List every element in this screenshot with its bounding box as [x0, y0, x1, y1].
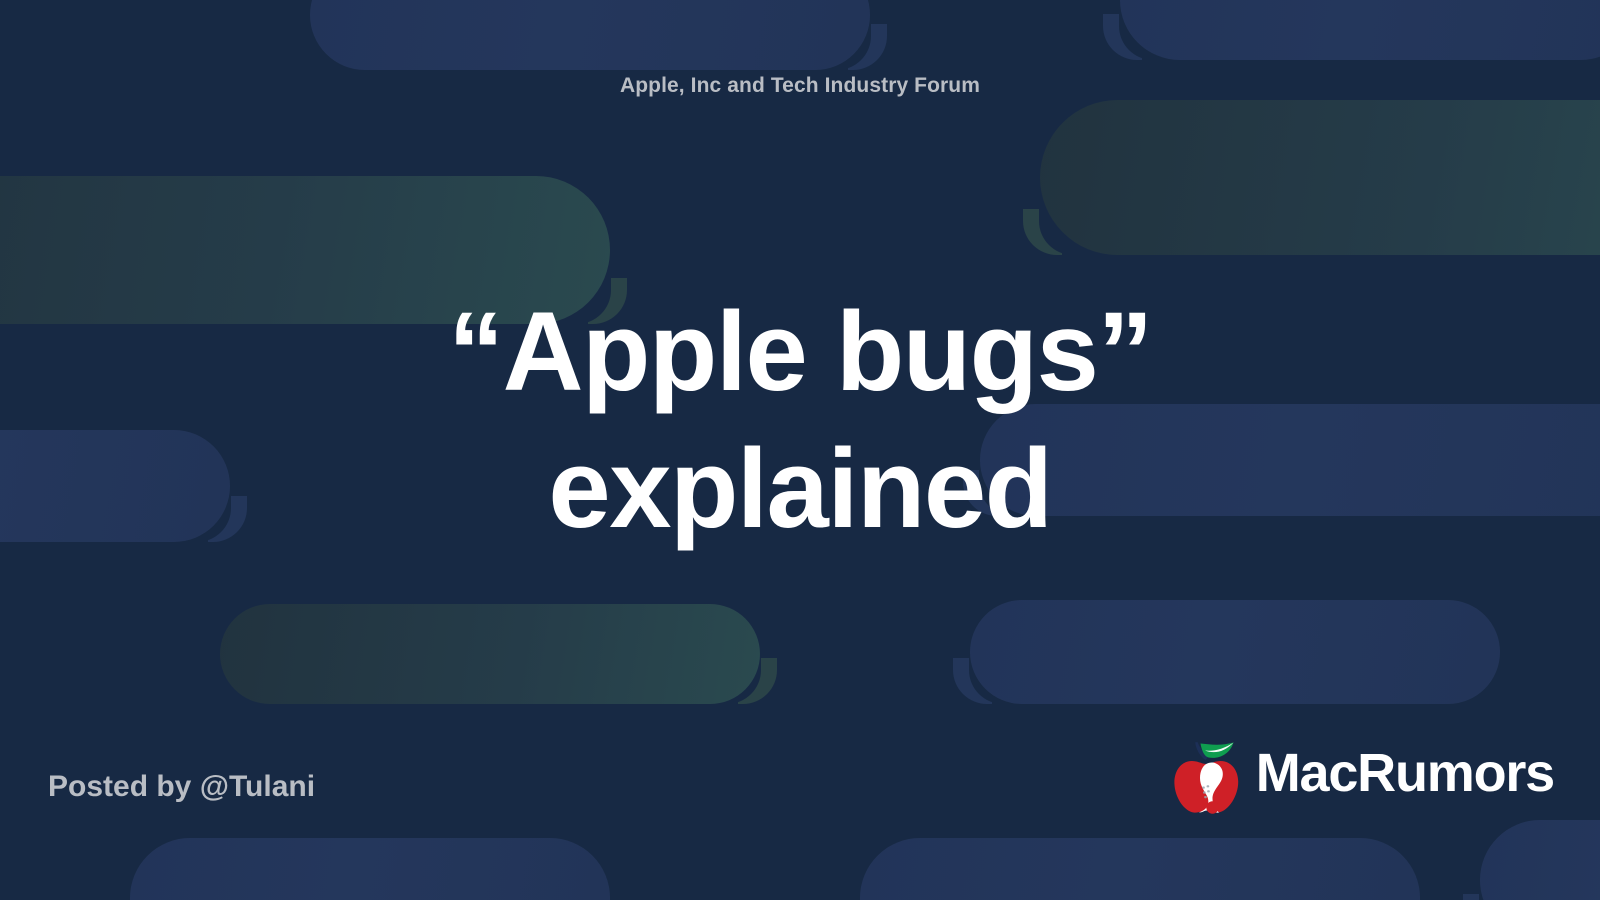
bubble-body — [970, 600, 1500, 704]
macrumors-apple-question-mark-icon — [1172, 735, 1250, 815]
bubble-body — [1040, 100, 1600, 255]
bubble-tail — [738, 658, 784, 704]
bubble-body — [130, 838, 610, 900]
bubble-lower-left — [220, 604, 760, 704]
bubble-body — [860, 838, 1420, 900]
bubble-body — [310, 0, 870, 70]
bubble-bottom-left — [130, 838, 610, 900]
posted-by-byline: Posted by @Tulani — [48, 770, 315, 804]
bubble-tail — [848, 24, 894, 70]
bubble-top-center — [310, 0, 870, 70]
bubble-body — [220, 604, 760, 704]
page-title: “Apple bugs” explained — [200, 284, 1400, 557]
bubble-lower-right — [970, 600, 1500, 704]
page-title-line-1: “Apple bugs” — [200, 284, 1400, 421]
bubble-upper-right — [1040, 100, 1600, 255]
bubble-mid-left — [0, 430, 230, 542]
macrumors-wordmark: MacRumors — [1256, 746, 1554, 804]
bubble-tail — [1016, 209, 1062, 255]
forum-label: Apple, Inc and Tech Industry Forum — [0, 74, 1600, 98]
bubble-tail — [1456, 894, 1502, 900]
macrumors-logo[interactable]: MacRumors — [1172, 735, 1554, 815]
bubble-bottom-right — [860, 838, 1420, 900]
bubble-tail — [946, 658, 992, 704]
bubble-tail — [1096, 14, 1142, 60]
page-title-line-2: explained — [200, 421, 1400, 558]
bubble-top-right — [1120, 0, 1600, 60]
bubble-body — [1120, 0, 1600, 60]
bubble-body — [0, 430, 230, 542]
share-card: Apple, Inc and Tech Industry Forum “Appl… — [0, 0, 1600, 900]
